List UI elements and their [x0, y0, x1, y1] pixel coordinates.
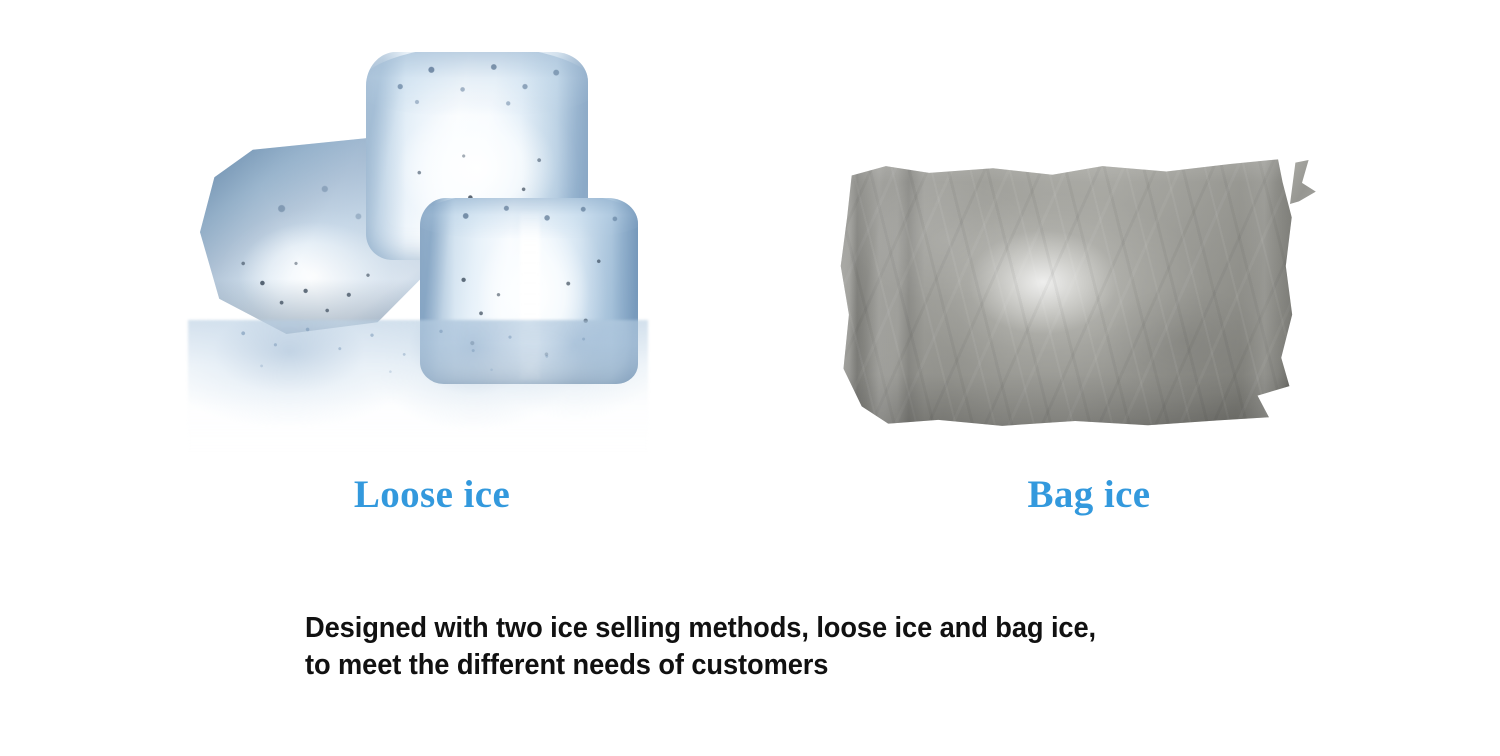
ice-droplets	[188, 316, 648, 412]
caption-block: Designed with two ice selling methods, l…	[305, 610, 1301, 684]
loose-ice-label: Loose ice	[282, 472, 582, 517]
loose-ice-panel	[180, 20, 680, 460]
bag-ice-panel	[838, 158, 1308, 438]
bag-ice-label: Bag ice	[939, 472, 1239, 517]
slide-canvas: Loose ice Bag ice Designed with two ice …	[0, 0, 1500, 756]
bag-corner-ear	[1290, 160, 1320, 204]
ice-cubes-icon	[180, 20, 680, 460]
ice-bag-icon	[838, 158, 1294, 428]
caption-line-1: Designed with two ice selling methods, l…	[305, 610, 1301, 647]
caption-line-2: to meet the different needs of customers	[305, 647, 1301, 684]
